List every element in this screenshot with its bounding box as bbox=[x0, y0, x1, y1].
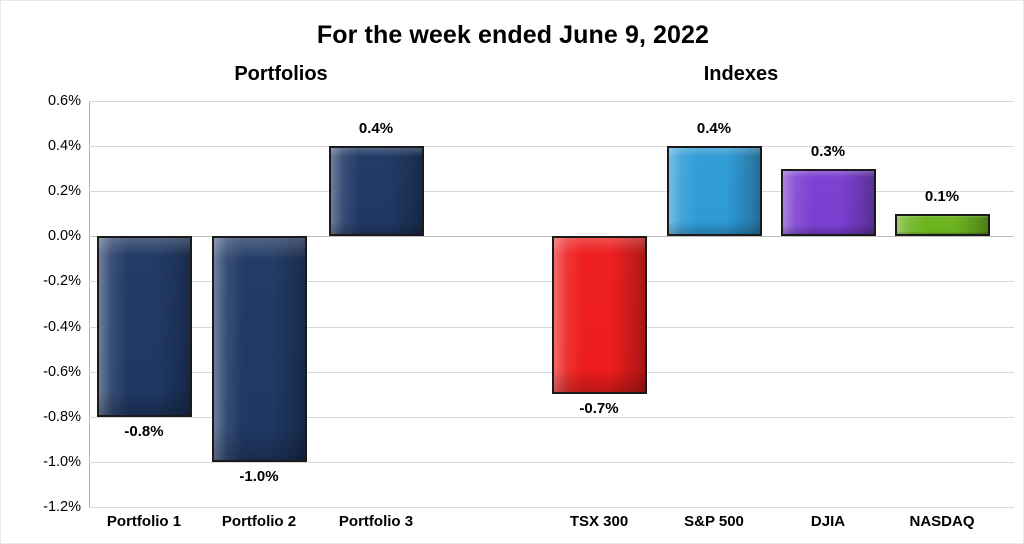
bar[interactable] bbox=[667, 146, 762, 236]
y-axis-tick-label: -0.2% bbox=[43, 273, 81, 289]
plot-area: 0.6%0.4%0.2%0.0%-0.2%-0.4%-0.6%-0.8%-1.0… bbox=[89, 101, 1014, 507]
y-axis-tick-label: -0.6% bbox=[43, 364, 81, 380]
bar[interactable] bbox=[329, 146, 424, 236]
bar-data-label: -0.8% bbox=[84, 423, 204, 440]
gridline bbox=[89, 462, 1014, 463]
y-axis-tick-label: 0.2% bbox=[48, 183, 81, 199]
bar-data-label: 0.4% bbox=[654, 120, 774, 137]
category-label: NASDAQ bbox=[862, 513, 1022, 530]
y-axis-tick-label: -0.4% bbox=[43, 319, 81, 335]
bar-data-label: 0.4% bbox=[316, 120, 436, 137]
bar[interactable] bbox=[212, 236, 307, 462]
bar-shading-vertical bbox=[897, 216, 988, 235]
category-label: Portfolio 3 bbox=[296, 513, 456, 530]
bar-shading-vertical bbox=[669, 148, 760, 234]
bar-shading-vertical bbox=[554, 238, 645, 392]
y-axis-tick-label: 0.6% bbox=[48, 93, 81, 109]
bar-shading-vertical bbox=[214, 238, 305, 460]
bar-shading-vertical bbox=[331, 148, 422, 234]
bar-data-label: -0.7% bbox=[539, 400, 659, 417]
bar[interactable] bbox=[97, 236, 192, 416]
bar[interactable] bbox=[552, 236, 647, 394]
group-label-portfolios: Portfolios bbox=[181, 63, 381, 86]
y-axis-tick-label: -0.8% bbox=[43, 409, 81, 425]
bar-data-label: -1.0% bbox=[199, 468, 319, 485]
bar[interactable] bbox=[781, 169, 876, 237]
y-axis-line bbox=[89, 101, 90, 507]
y-axis-tick-label: 0.0% bbox=[48, 228, 81, 244]
bar-chart: For the week ended June 9, 2022 Portfoli… bbox=[0, 0, 1024, 544]
y-axis-tick-label: 0.4% bbox=[48, 138, 81, 154]
y-axis-tick-label: -1.0% bbox=[43, 454, 81, 470]
bar-data-label: 0.1% bbox=[882, 188, 1002, 205]
bar-data-label: 0.3% bbox=[768, 143, 888, 160]
bottom-rule bbox=[89, 507, 1014, 508]
gridline bbox=[89, 101, 1014, 102]
bar-shading-vertical bbox=[99, 238, 190, 414]
chart-title: For the week ended June 9, 2022 bbox=[1, 21, 1024, 50]
bar-shading-vertical bbox=[783, 171, 874, 235]
bar[interactable] bbox=[895, 214, 990, 237]
group-label-indexes: Indexes bbox=[641, 63, 841, 86]
